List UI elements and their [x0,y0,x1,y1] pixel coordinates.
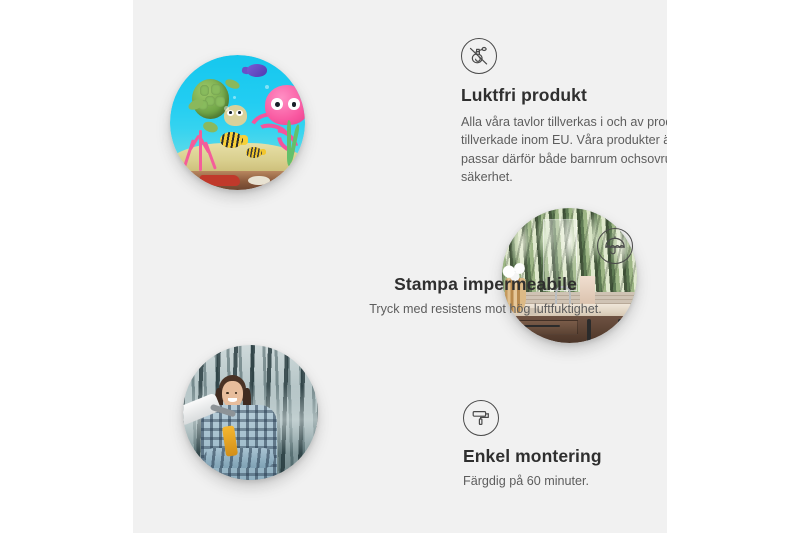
folded-arms [204,448,274,468]
feature-description: Tryck med resistens mot hög luftfuktighe… [338,300,633,318]
banner-canvas: Luktfri produkt Alla våra tavlor tillver… [133,0,667,533]
feature-waterproof: Stampa impermeabile Tryck med resistens … [338,228,633,318]
feature-title: Stampa impermeabile [338,274,633,295]
blue-fish [247,64,267,76]
cabinet-handle [618,319,622,343]
feature-mounting: Enkel montering Färgdig på 60 minuter. [463,400,667,490]
feature-title: Luktfri produkt [461,85,667,106]
drawer-pull [523,325,560,326]
sea-turtle-illustration [188,78,245,127]
photo-underwater [170,55,305,190]
umbrella-icon [597,228,633,264]
no-odor-spray-bottle-icon [461,38,497,74]
drawer [510,320,578,335]
photo-forest [183,345,318,480]
bubble [265,85,269,89]
pink-coral [181,128,222,171]
sea-weed [283,120,299,166]
paint-roller-icon [463,400,499,436]
cabinet-handle [587,319,591,343]
feature-description: Färgdig på 60 minuter. [463,472,667,490]
feature-description: Alla våra tavlor tillverkas i och av pro… [461,113,667,187]
photo-underwater-art [170,55,305,190]
product-feature-banner: Luktfri produkt Alla våra tavlor tillver… [0,0,800,533]
photo-forest-art [183,345,318,480]
feature-title: Enkel montering [463,446,667,467]
feature-odorless: Luktfri produkt Alla våra tavlor tillver… [461,38,667,187]
yellow-fish [220,132,243,148]
vanity-cabinet [505,316,637,343]
ocean-floor [170,171,305,190]
yellow-fish-small [246,147,262,158]
